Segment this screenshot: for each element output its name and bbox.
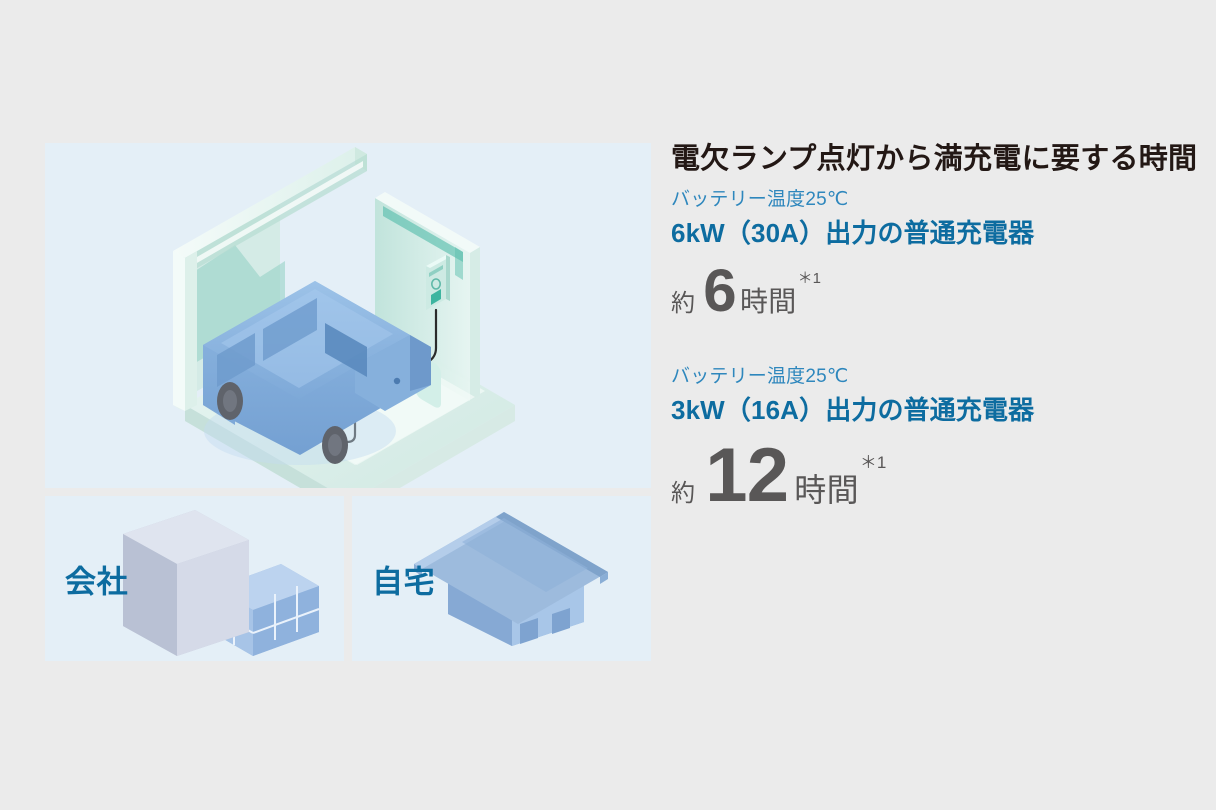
home-panel: 自宅: [352, 496, 651, 661]
duration-unit-2: 時間: [794, 465, 859, 511]
spec-block-3kw: バッテリー温度25℃ 3kW（16A）出力の普通充電器 約 12 時間 ＊1: [671, 365, 1201, 514]
garage-charging-panel: [45, 143, 651, 488]
duration-value-2: 12: [705, 438, 788, 514]
infographic-root: 会社: [0, 0, 1216, 810]
approx-label-1: 約: [671, 283, 695, 318]
duration-value-1: 6: [703, 261, 736, 321]
charging-info-column: 電欠ランプ点灯から満充電に要する時間 バッテリー温度25℃ 6kW（30A）出力…: [671, 143, 1201, 518]
duration-unit-1: 時間: [740, 280, 797, 320]
battery-temp-label-1: バッテリー温度25℃: [671, 188, 1201, 213]
charging-duration-2: 約 12 時間 ＊1: [671, 438, 1201, 514]
footnote-marker-1: ＊1: [798, 267, 821, 288]
spec-block-6kw: バッテリー温度25℃ 6kW（30A）出力の普通充電器 約 6 時間 ＊1: [671, 188, 1201, 321]
building-tower: [123, 510, 249, 656]
charger-type-1: 6kW（30A）出力の普通充電器: [671, 216, 1201, 251]
home-label: 自宅: [372, 556, 435, 601]
van-wheel-rear: [217, 382, 243, 420]
garage-charging-illustration: [45, 143, 651, 488]
page-title: 電欠ランプ点灯から満充電に要する時間: [671, 143, 1201, 176]
battery-temp-label-2: バッテリー温度25℃: [671, 365, 1201, 390]
location-panels: 会社: [45, 496, 651, 661]
approx-label-2: 約: [671, 473, 695, 508]
company-panel: 会社: [45, 496, 344, 661]
illustration-column: 会社: [45, 143, 651, 661]
footnote-marker-2: ＊1: [860, 448, 886, 473]
company-label: 会社: [65, 556, 128, 601]
charger-type-2: 3kW（16A）出力の普通充電器: [671, 393, 1201, 428]
van-wheel-front: [322, 426, 348, 464]
charging-duration-1: 約 6 時間 ＊1: [671, 261, 1201, 321]
